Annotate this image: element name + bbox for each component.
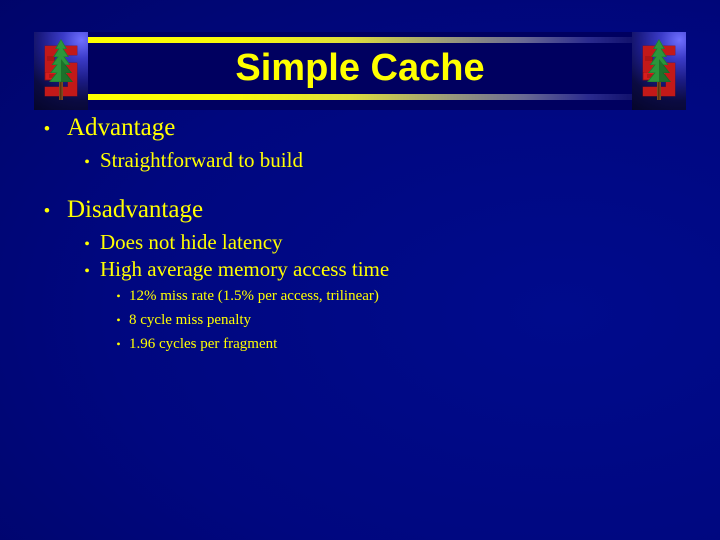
bullet-glyph-icon: • <box>112 335 125 353</box>
bullet-text: 12% miss rate (1.5% per access, trilinea… <box>129 287 379 305</box>
bullet-glyph-icon: • <box>79 151 95 175</box>
bullet-text: High average memory access time <box>100 257 389 281</box>
bullet-item-does-not-hide-latency: • Does not hide latency <box>79 230 283 257</box>
bullet-glyph-icon: • <box>112 287 125 305</box>
bullet-item-straightforward-to-build: • Straightforward to build <box>79 148 303 175</box>
bullet-item-high-average-memory-access-time: • High average memory access time <box>79 257 389 284</box>
bullet-text: 1.96 cycles per fragment <box>129 335 277 353</box>
bullet-item-miss-rate: • 12% miss rate (1.5% per access, trilin… <box>112 287 379 305</box>
bullet-text: Does not hide latency <box>100 230 283 254</box>
bullet-item-disadvantage: • Disadvantage <box>34 196 203 226</box>
bullet-item-miss-penalty: • 8 cycle miss penalty <box>112 311 251 329</box>
bullet-glyph-icon: • <box>79 260 95 284</box>
slide-body: • Advantage • Straightforward to build •… <box>0 0 720 540</box>
bullet-glyph-icon: • <box>112 311 125 329</box>
bullet-item-cycles-per-fragment: • 1.96 cycles per fragment <box>112 335 277 353</box>
bullet-item-advantage: • Advantage <box>34 114 175 144</box>
slide-canvas: Simple Cache <box>0 0 720 540</box>
bullet-text: Straightforward to build <box>100 148 303 172</box>
bullet-text: Advantage <box>67 114 175 142</box>
bullet-text: Disadvantage <box>67 196 203 224</box>
bullet-text: 8 cycle miss penalty <box>129 311 251 329</box>
bullet-glyph-icon: • <box>34 198 60 226</box>
bullet-glyph-icon: • <box>34 116 60 144</box>
bullet-glyph-icon: • <box>79 233 95 257</box>
